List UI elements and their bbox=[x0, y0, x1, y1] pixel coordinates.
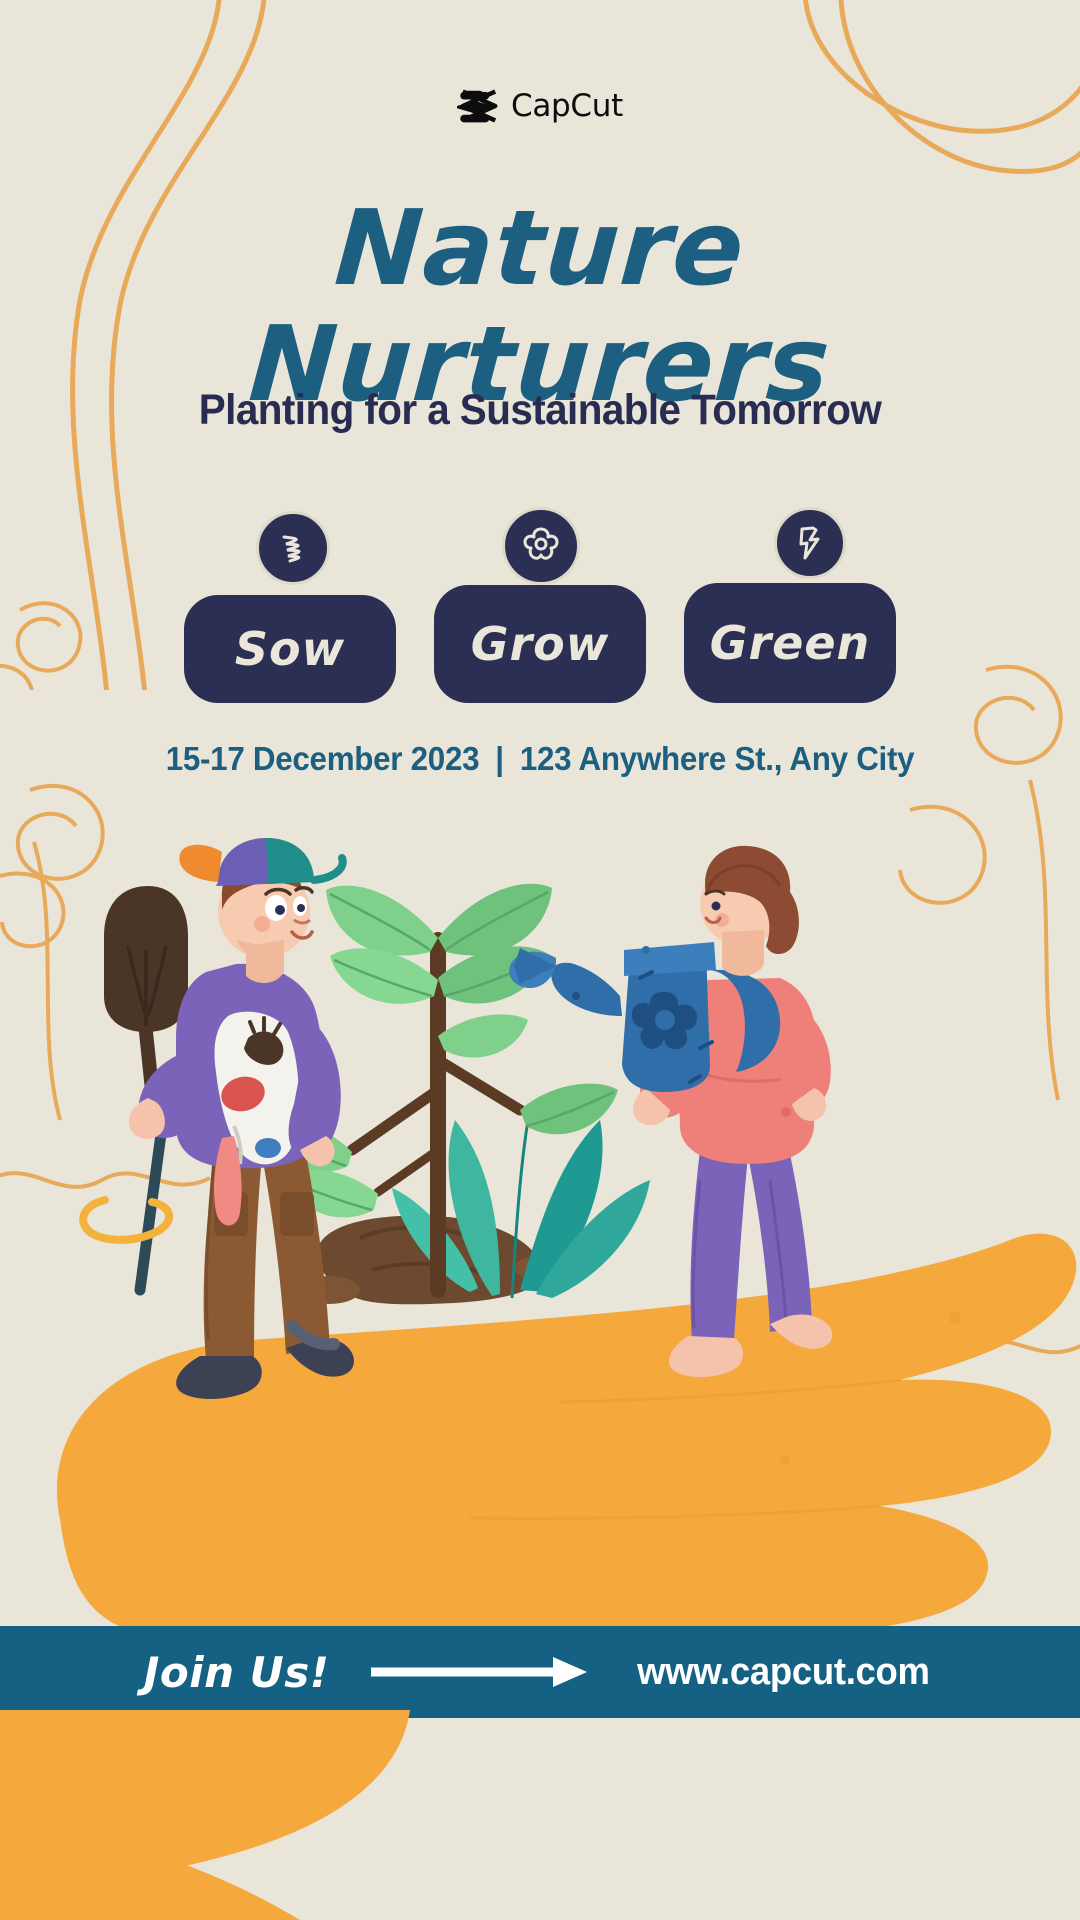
pill-sow[interactable]: Sow bbox=[184, 595, 396, 703]
seed-squiggle-icon bbox=[256, 511, 330, 585]
capcut-mark-icon bbox=[457, 88, 501, 124]
pill-grow[interactable]: Grow bbox=[434, 585, 646, 703]
pill-green[interactable]: Green bbox=[684, 583, 896, 703]
event-address: 123 Anywhere St., Any City bbox=[520, 740, 914, 777]
page-subtitle: Planting for a Sustainable Tomorrow bbox=[32, 386, 1047, 435]
poster-canvas: CapCut Nature Nurturers Planting for a S… bbox=[0, 0, 1080, 1920]
bottom-orange-wedge bbox=[0, 1710, 1080, 1920]
capcut-logo: CapCut bbox=[0, 88, 1080, 124]
lightning-bolt-icon bbox=[774, 507, 846, 579]
footer-url[interactable]: www.capcut.com bbox=[638, 1651, 931, 1694]
page-title-line1: Nature bbox=[0, 196, 1080, 300]
event-details: 15-17 December 2023 | 123 Anywhere St., … bbox=[27, 740, 1053, 778]
pill-green-label: Green bbox=[710, 616, 871, 670]
right-arrow-icon bbox=[371, 1655, 589, 1689]
planting-illustration bbox=[0, 820, 1080, 1730]
event-dates: 15-17 December 2023 bbox=[166, 740, 480, 777]
pill-row: Sow Grow Green bbox=[0, 545, 1080, 725]
man-with-shovel bbox=[83, 838, 354, 1399]
page-title: Nature Nurturers bbox=[0, 196, 1080, 416]
footer-bar: Join Us! www.capcut.com bbox=[0, 1626, 1080, 1718]
flower-icon bbox=[502, 507, 580, 585]
capcut-logo-text: CapCut bbox=[511, 88, 623, 124]
footer-cta: Join Us! bbox=[144, 1648, 330, 1697]
pill-sow-label: Sow bbox=[235, 622, 345, 676]
pill-grow-label: Grow bbox=[471, 617, 610, 671]
event-separator: | bbox=[488, 740, 512, 777]
